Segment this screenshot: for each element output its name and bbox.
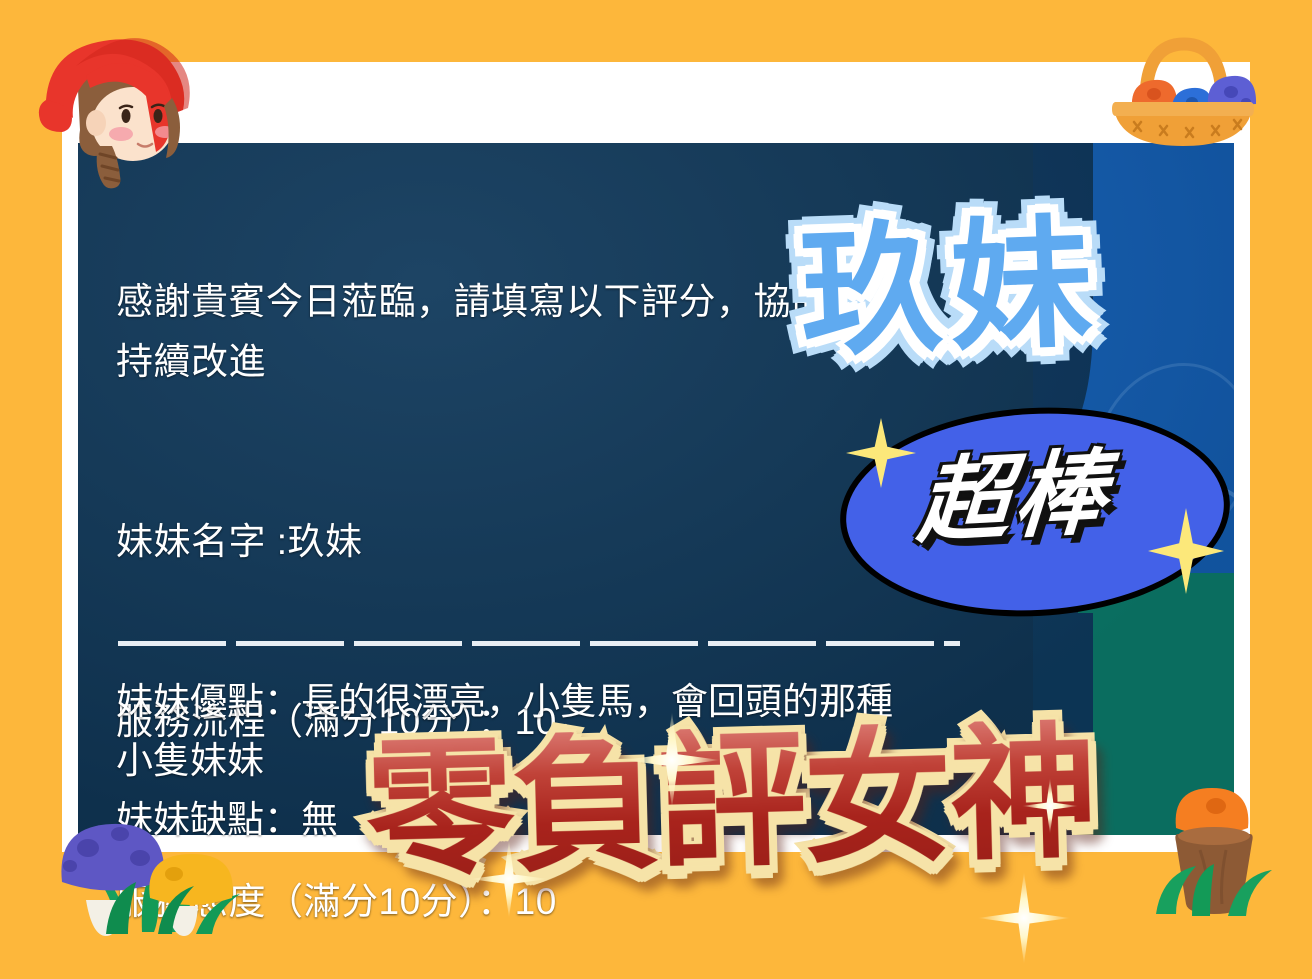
mushroom-basket-icon bbox=[1098, 22, 1268, 150]
mushroom-cluster-icon bbox=[46, 792, 258, 942]
review-poster: 感謝貴賓今日蒞臨，請填寫以下評分，協助我們 持續改進 妹妹名字 :玖妹 服務流程… bbox=[0, 0, 1312, 979]
section-divider bbox=[118, 641, 960, 646]
name-badge-sticker: 玖妹 bbox=[798, 213, 1103, 365]
tree-stump-icon bbox=[1148, 772, 1298, 932]
super-badge-label: 超棒 bbox=[914, 438, 1114, 559]
hero-wordmark: 零負評女神 bbox=[364, 718, 1098, 885]
red-riding-hood-girl-icon bbox=[26, 28, 216, 198]
